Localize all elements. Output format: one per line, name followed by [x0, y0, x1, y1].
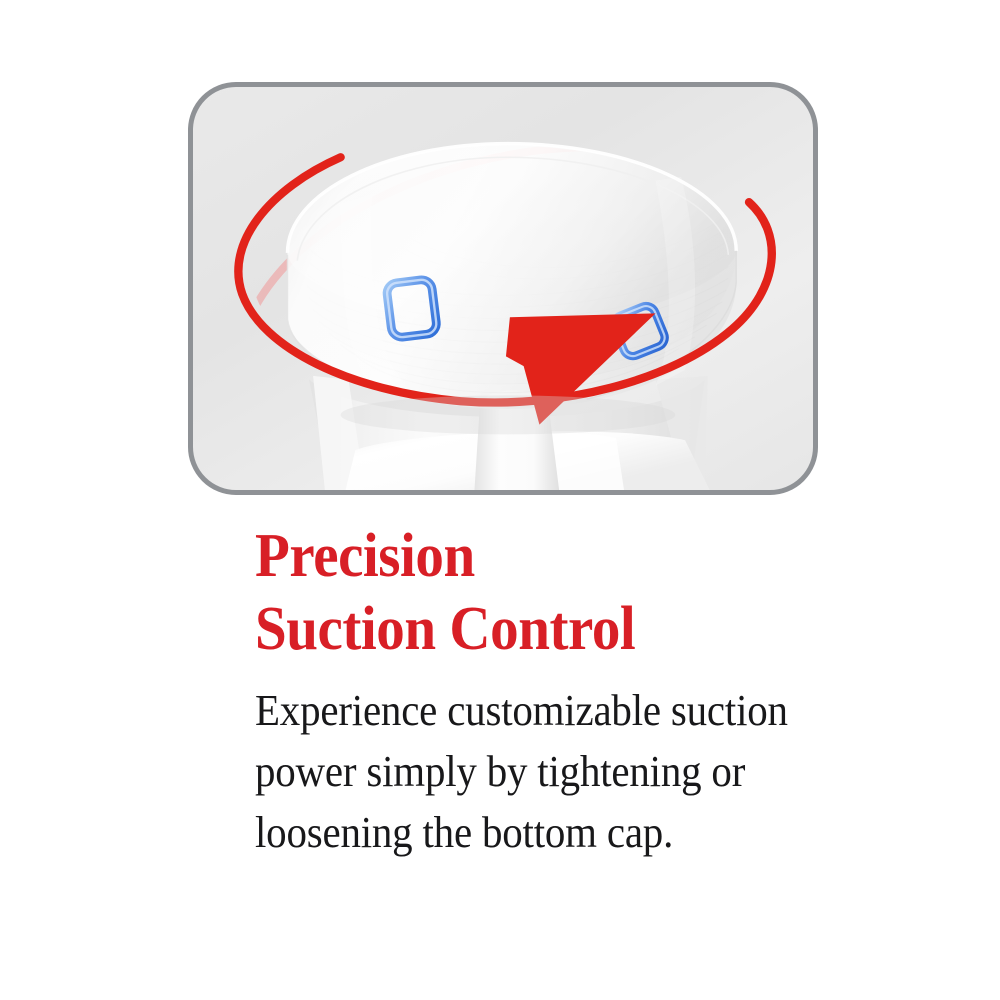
- product-illustration-panel: [188, 82, 818, 495]
- feature-description: Experience customizable suction power si…: [255, 680, 813, 863]
- product-feature-infographic: Precision Suction Control Experience cus…: [0, 0, 1000, 1000]
- cap-shadow: [341, 395, 676, 434]
- rotating-cap-illustration: [193, 87, 813, 490]
- feature-headline: Precision Suction Control: [255, 520, 770, 666]
- caption-block: Precision Suction Control Experience cus…: [255, 520, 815, 863]
